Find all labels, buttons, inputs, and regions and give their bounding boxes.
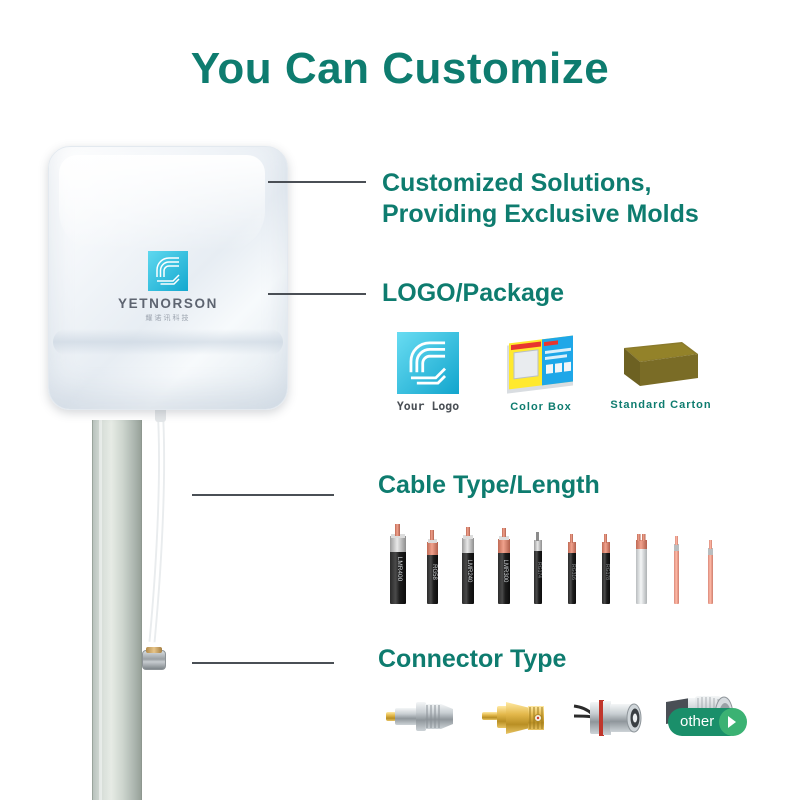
- brand-subtitle: 耀诺讯科技: [49, 313, 287, 323]
- svg-text:LMR400: LMR400: [396, 557, 403, 582]
- svg-text:RG58: RG58: [431, 564, 437, 580]
- callout-cable: Cable Type/Length: [378, 471, 600, 500]
- page-title: You Can Customize: [0, 44, 800, 94]
- package-item-your-logo[interactable]: Your Logo: [380, 332, 476, 413]
- package-caption-your-logo: Your Logo: [380, 399, 476, 413]
- color-box-image: [504, 334, 578, 396]
- standard-carton-image: [620, 334, 702, 394]
- svg-text:RG316: RG316: [570, 564, 576, 580]
- marketing-image: You Can Customize: [0, 0, 800, 800]
- panel-branding: YETNORSON 耀诺讯科技: [49, 251, 287, 323]
- cable-samples: LMR400 RG58 LMR240: [382, 522, 782, 604]
- leader-line-logo: [268, 293, 366, 295]
- panel-antenna: YETNORSON 耀诺讯科技: [48, 146, 288, 410]
- panel-gloss: [59, 155, 265, 251]
- package-options: Your Logo: [378, 332, 778, 428]
- other-button[interactable]: other: [668, 708, 744, 736]
- leader-line-solutions: [268, 181, 366, 183]
- callout-connector: Connector Type: [378, 645, 566, 674]
- svg-text:LMR300: LMR300: [502, 560, 508, 583]
- antenna-cable: [130, 406, 210, 666]
- panel-seam: [53, 329, 283, 355]
- n-type-connector: [574, 700, 641, 736]
- product-photo: YETNORSON 耀诺讯科技: [0, 120, 360, 800]
- svg-text:RG174: RG174: [536, 562, 542, 578]
- cable-end-connector: [142, 650, 166, 670]
- yetnorson-logo-icon: [148, 251, 188, 291]
- fme-connector: [386, 702, 453, 731]
- callout-solutions-line1: Customized Solutions,: [382, 168, 699, 199]
- callout-logo-package: LOGO/Package: [382, 279, 564, 308]
- cable-options: LMR400 RG58 LMR240: [382, 522, 782, 604]
- svg-text:RG178: RG178: [604, 564, 610, 580]
- callout-solutions: Customized Solutions, Providing Exclusiv…: [382, 168, 699, 229]
- leader-line-cable: [192, 494, 334, 496]
- your-logo-icon: [397, 332, 459, 394]
- package-caption-color-box: Color Box: [488, 401, 594, 413]
- svg-text:LMR240: LMR240: [466, 560, 472, 583]
- sma-connector: [482, 702, 544, 734]
- package-item-standard-carton[interactable]: Standard Carton: [600, 334, 722, 411]
- other-button-label: other: [680, 713, 714, 730]
- brand-name: YETNORSON: [49, 296, 287, 311]
- package-caption-standard-carton: Standard Carton: [600, 399, 722, 411]
- callout-solutions-line2: Providing Exclusive Molds: [382, 199, 699, 230]
- package-item-color-box[interactable]: Color Box: [488, 334, 594, 413]
- arrow-right-icon: [719, 708, 747, 736]
- leader-line-connector: [192, 662, 334, 664]
